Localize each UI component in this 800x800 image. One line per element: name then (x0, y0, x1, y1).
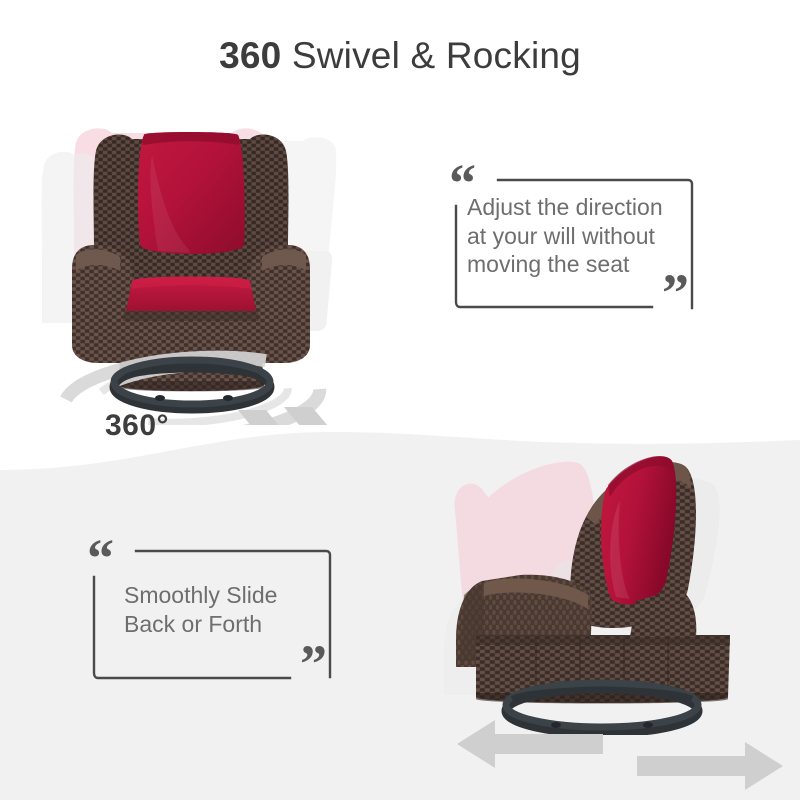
page-title-rest: Swivel & Rocking (281, 35, 581, 76)
page-title: 360 Swivel & Rocking (0, 34, 800, 78)
callout-swivel: “ Adjust the direction at your will with… (440, 160, 725, 335)
open-quote-icon: “ (87, 531, 113, 585)
page-title-number: 360 (219, 35, 281, 76)
arrow-slide-right (637, 742, 783, 790)
infographic-canvas: 360 Swivel & Rocking (0, 0, 800, 800)
close-quote-icon: ” (662, 266, 688, 320)
side-view-chair-illustration (440, 405, 800, 735)
callout-slide-text: Smoothly Slide Back or Forth (124, 581, 364, 638)
callout-slide: “ Smoothly Slide Back or Forth ” (78, 533, 363, 703)
arrow-slide-left (457, 720, 603, 768)
close-quote-icon: ” (300, 637, 326, 691)
front-view-chair-illustration (40, 95, 370, 425)
slide-direction-arrows (455, 718, 785, 790)
rotation-degree-label: 360° (105, 409, 169, 443)
